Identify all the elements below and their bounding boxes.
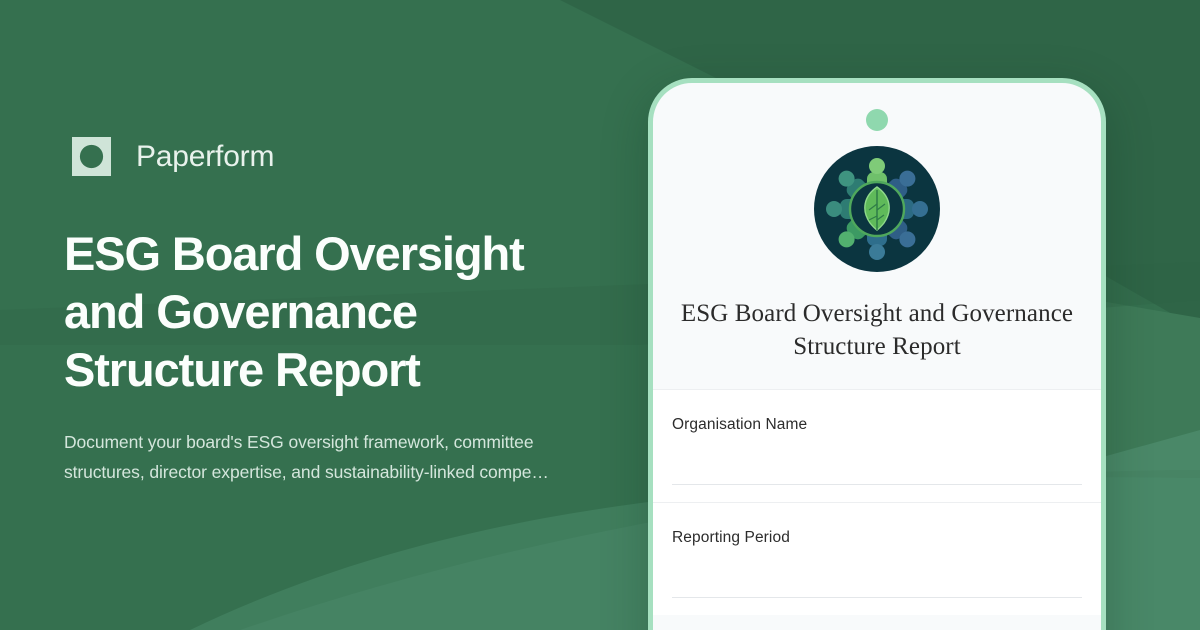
camera-dot-icon	[866, 109, 888, 131]
field-underline	[672, 597, 1082, 598]
page-title: ESG Board Oversight and Governance Struc…	[64, 225, 584, 399]
form-title: ESG Board Oversight and Governance Struc…	[677, 297, 1077, 363]
hero-panel: Paperform ESG Board Oversight and Govern…	[64, 0, 624, 630]
brand-lockup: Paperform	[64, 129, 624, 184]
brand-name: Paperform	[136, 140, 274, 174]
phone-mockup: ESG Board Oversight and Governance Struc…	[648, 78, 1106, 630]
form-field-organisation-name[interactable]: Organisation Name	[653, 389, 1101, 502]
field-underline	[672, 484, 1082, 485]
paperform-star-mark-icon	[64, 129, 119, 184]
field-label: Organisation Name	[672, 416, 1082, 434]
esg-governance-circle-logo-icon	[814, 146, 940, 272]
form-field-reporting-period[interactable]: Reporting Period	[653, 502, 1101, 615]
page-description: Document your board's ESG oversight fram…	[64, 427, 564, 487]
field-label: Reporting Period	[672, 529, 1082, 547]
form-fields-list: Organisation Name Reporting Period	[653, 389, 1101, 615]
